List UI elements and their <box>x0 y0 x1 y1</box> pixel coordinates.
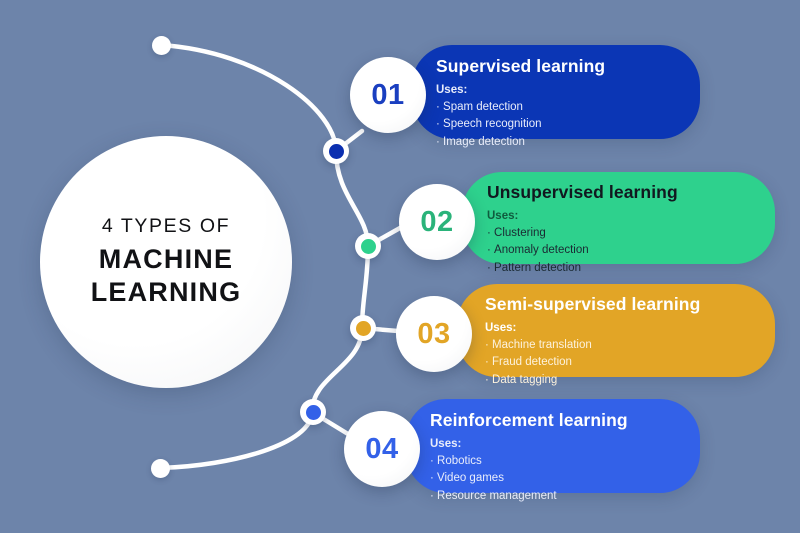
list-item: Speech recognition <box>436 116 682 133</box>
card-supervised-learning[interactable]: Supervised learning Uses: Spam detection… <box>412 45 700 139</box>
arc-endpoint-bottom-dot <box>151 459 170 478</box>
card-3-uses-label: Uses: <box>485 321 757 335</box>
step-number-badge-4: 04 <box>344 411 420 487</box>
card-4-uses-label: Uses: <box>430 437 682 451</box>
list-item: Clustering <box>487 225 757 242</box>
list-item: Video games <box>430 470 682 487</box>
list-item: Resource management <box>430 488 682 505</box>
card-3-title: Semi-supervised learning <box>485 295 757 314</box>
card-1-uses-list: Spam detection Speech recognition Image … <box>436 99 682 151</box>
card-4-title: Reinforcement learning <box>430 411 682 430</box>
connector-node-4 <box>300 399 326 425</box>
card-4-uses-list: Robotics Video games Resource management <box>430 453 682 505</box>
card-3-body: Semi-supervised learning Uses: Machine t… <box>457 284 775 389</box>
card-2-title: Unsupervised learning <box>487 183 757 202</box>
hub-title-line-2: MACHINE <box>99 243 233 276</box>
hub-title-line-1: 4 TYPES OF <box>102 215 230 237</box>
card-1-title: Supervised learning <box>436 57 682 76</box>
list-item: Spam detection <box>436 99 682 116</box>
card-semi-supervised-learning[interactable]: Semi-supervised learning Uses: Machine t… <box>457 284 775 377</box>
card-reinforcement-learning[interactable]: Reinforcement learning Uses: Robotics Vi… <box>406 399 700 493</box>
step-number-badge-1: 01 <box>350 57 426 133</box>
node-core-4 <box>306 405 321 420</box>
card-unsupervised-learning[interactable]: Unsupervised learning Uses: Clustering A… <box>462 172 775 264</box>
card-3-uses-list: Machine translation Fraud detection Data… <box>485 337 757 389</box>
card-2-uses-label: Uses: <box>487 209 757 223</box>
card-1-body: Supervised learning Uses: Spam detection… <box>412 45 700 151</box>
connector-node-2 <box>355 233 381 259</box>
center-hub: 4 TYPES OF MACHINE LEARNING <box>40 136 292 388</box>
infographic-canvas: 4 TYPES OF MACHINE LEARNING Supervised l… <box>0 0 800 533</box>
hub-title-line-3: LEARNING <box>91 276 242 309</box>
card-4-body: Reinforcement learning Uses: Robotics Vi… <box>406 399 700 505</box>
node-core-1 <box>329 144 344 159</box>
list-item: Data tagging <box>485 372 757 389</box>
list-item: Robotics <box>430 453 682 470</box>
arc-endpoint-top-dot <box>152 36 171 55</box>
step-number-badge-3: 03 <box>396 296 472 372</box>
list-item: Image detection <box>436 134 682 151</box>
card-2-uses-list: Clustering Anomaly detection Pattern det… <box>487 225 757 277</box>
list-item: Pattern detection <box>487 260 757 277</box>
connector-node-3 <box>350 315 376 341</box>
list-item: Machine translation <box>485 337 757 354</box>
step-number-badge-2: 02 <box>399 184 475 260</box>
card-2-body: Unsupervised learning Uses: Clustering A… <box>462 172 775 277</box>
list-item: Fraud detection <box>485 354 757 371</box>
list-item: Anomaly detection <box>487 242 757 259</box>
node-core-2 <box>361 239 376 254</box>
node-core-3 <box>356 321 371 336</box>
connector-node-1 <box>323 138 349 164</box>
card-1-uses-label: Uses: <box>436 83 682 97</box>
